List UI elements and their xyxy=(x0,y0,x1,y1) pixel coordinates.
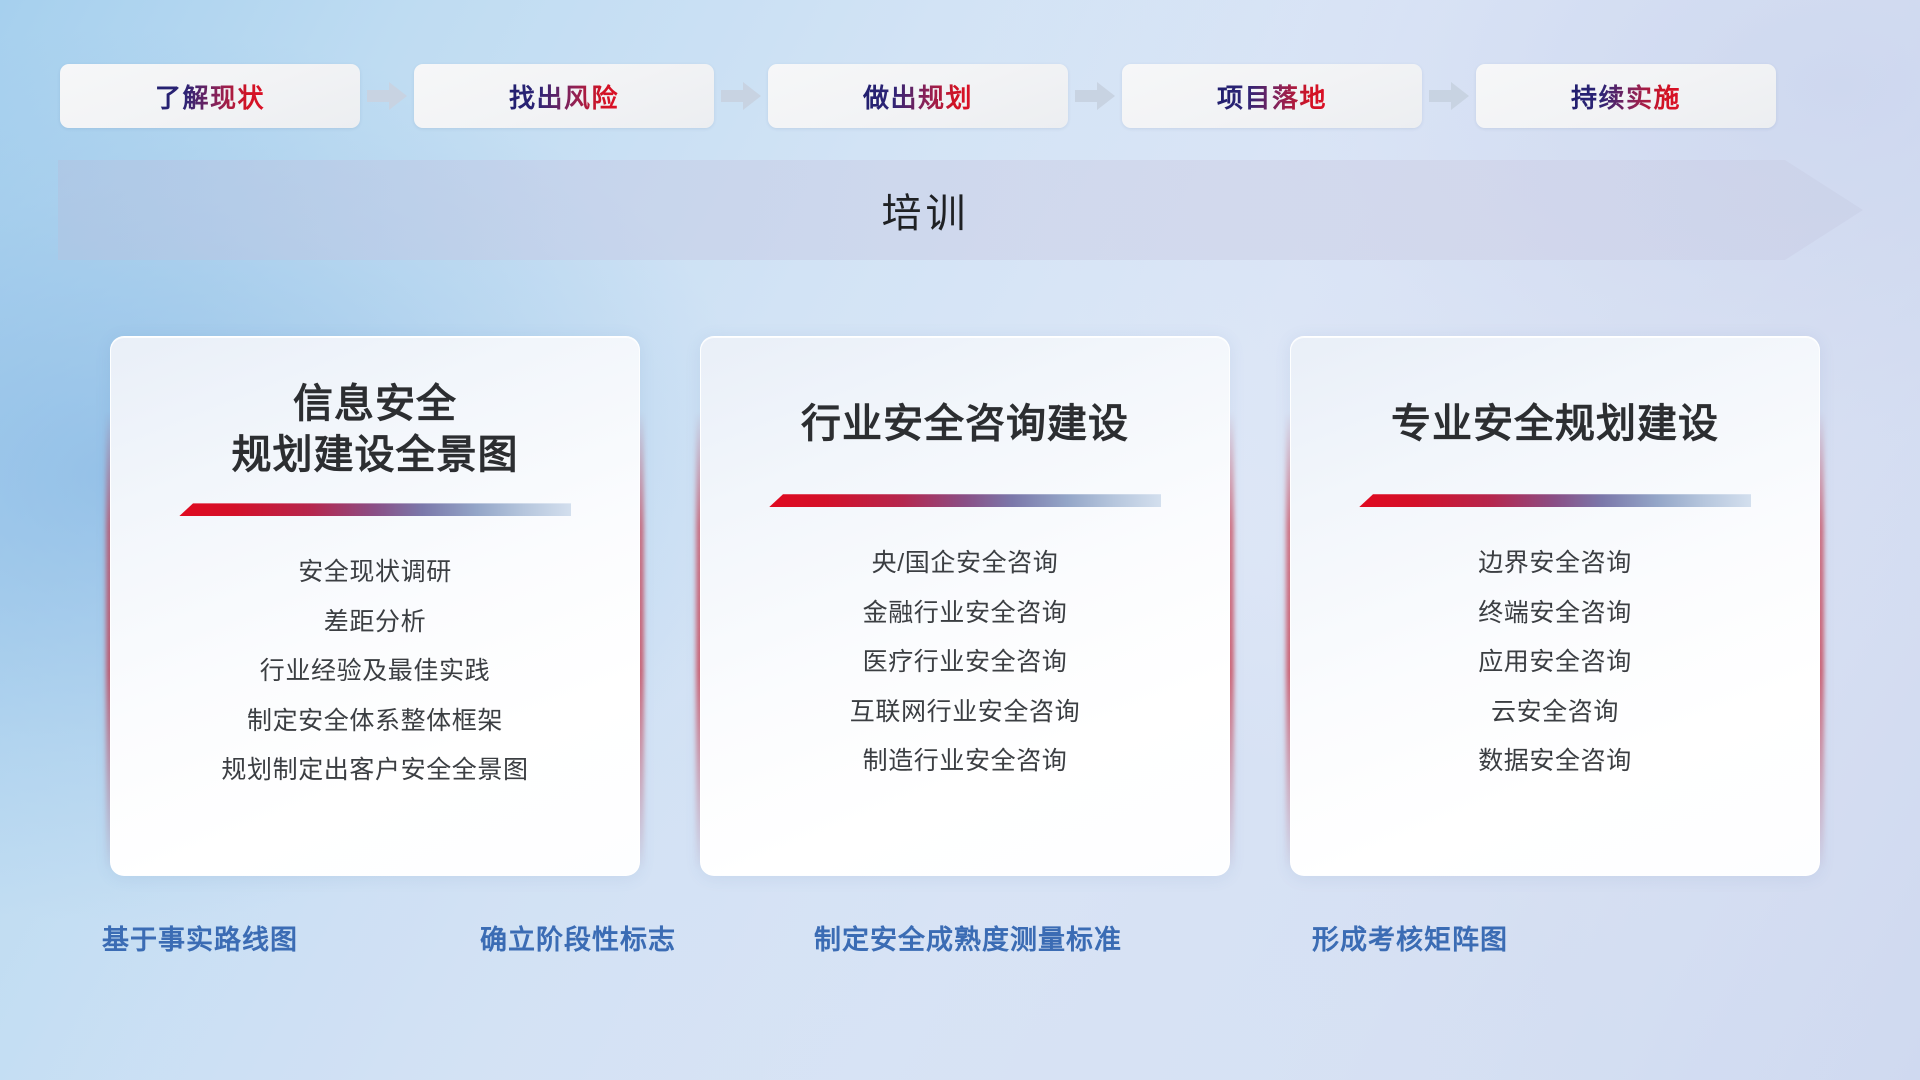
step-chip-1[interactable]: 了解现状 xyxy=(60,64,360,128)
list-item: 安全现状调研 xyxy=(298,552,452,593)
list-item: 规划制定出客户安全全景图 xyxy=(221,750,528,791)
card-wrapper-2: 行业安全咨询建设 央/国企安全咨询 金融行业安全咨询 医疗行业安全咨询 互联网行… xyxy=(700,336,1230,876)
caption-4: 形成考核矩阵图 xyxy=(1312,918,1508,957)
card-divider xyxy=(769,494,1161,507)
card-wrapper-1: 信息安全 规划建设全景图 安全现状调研 差距分析 行业经验及最佳实践 制定安全体… xyxy=(110,336,640,876)
card-information-security-panorama[interactable]: 信息安全 规划建设全景图 安全现状调研 差距分析 行业经验及最佳实践 制定安全体… xyxy=(110,336,640,876)
list-item: 应用安全咨询 xyxy=(1478,642,1632,683)
card-divider xyxy=(1359,494,1751,507)
list-item: 数据安全咨询 xyxy=(1478,741,1632,782)
step-chip-label: 做出规划 xyxy=(863,78,973,115)
caption-1: 基于事实路线图 xyxy=(102,918,298,957)
step-chip-5[interactable]: 持续实施 xyxy=(1476,64,1776,128)
arrow-right-icon xyxy=(1072,82,1118,110)
card-title: 专业安全规划建设 xyxy=(1317,399,1793,450)
step-chip-4[interactable]: 项目落地 xyxy=(1122,64,1422,128)
banner-title: 培训 xyxy=(58,160,1863,260)
step-chip-label: 持续实施 xyxy=(1571,78,1681,115)
list-item: 差距分析 xyxy=(324,602,426,643)
arrow-right-icon xyxy=(718,82,764,110)
arrow-right-icon xyxy=(1426,82,1472,110)
card-wrapper-3: 专业安全规划建设 边界安全咨询 终端安全咨询 应用安全咨询 云安全咨询 数据安全… xyxy=(1290,336,1820,876)
card-list: 央/国企安全咨询 金融行业安全咨询 医疗行业安全咨询 互联网行业安全咨询 制造行… xyxy=(727,543,1203,782)
list-item: 制定安全体系整体框架 xyxy=(247,701,503,742)
list-item: 央/国企安全咨询 xyxy=(872,543,1059,584)
step-chip-label: 项目落地 xyxy=(1217,78,1327,115)
caption-3: 制定安全成熟度测量标准 xyxy=(814,918,1122,957)
caption-row: 基于事实路线图 确立阶段性标志 制定安全成熟度测量标准 形成考核矩阵图 xyxy=(0,918,1920,960)
list-item: 终端安全咨询 xyxy=(1478,593,1632,634)
step-chip-label: 了解现状 xyxy=(155,78,265,115)
training-banner: 培训 xyxy=(58,160,1863,260)
card-list: 安全现状调研 差距分析 行业经验及最佳实践 制定安全体系整体框架 规划制定出客户… xyxy=(137,552,613,791)
list-item: 医疗行业安全咨询 xyxy=(863,642,1068,683)
step-chip-2[interactable]: 找出风险 xyxy=(414,64,714,128)
card-list: 边界安全咨询 终端安全咨询 应用安全咨询 云安全咨询 数据安全咨询 xyxy=(1317,543,1793,782)
list-item: 金融行业安全咨询 xyxy=(863,593,1068,634)
card-title: 行业安全咨询建设 xyxy=(727,399,1203,450)
list-item: 制造行业安全咨询 xyxy=(863,741,1068,782)
card-industry-security-consulting[interactable]: 行业安全咨询建设 央/国企安全咨询 金融行业安全咨询 医疗行业安全咨询 互联网行… xyxy=(700,336,1230,876)
list-item: 边界安全咨询 xyxy=(1478,543,1632,584)
process-step-row: 了解现状 找出风险 做出规划 项目落地 xyxy=(60,62,1860,130)
arrow-right-icon xyxy=(364,82,410,110)
card-title: 信息安全 规划建设全景图 xyxy=(137,379,613,481)
card-divider xyxy=(179,503,571,516)
list-item: 互联网行业安全咨询 xyxy=(850,692,1080,733)
step-chip-label: 找出风险 xyxy=(509,78,619,115)
list-item: 云安全咨询 xyxy=(1491,692,1619,733)
slide-canvas: 了解现状 找出风险 做出规划 项目落地 xyxy=(0,0,1920,1080)
step-chip-3[interactable]: 做出规划 xyxy=(768,64,1068,128)
list-item: 行业经验及最佳实践 xyxy=(260,651,490,692)
card-row: 信息安全 规划建设全景图 安全现状调研 差距分析 行业经验及最佳实践 制定安全体… xyxy=(110,336,1820,876)
card-professional-security-planning[interactable]: 专业安全规划建设 边界安全咨询 终端安全咨询 应用安全咨询 云安全咨询 数据安全… xyxy=(1290,336,1820,876)
caption-2: 确立阶段性标志 xyxy=(480,918,676,957)
